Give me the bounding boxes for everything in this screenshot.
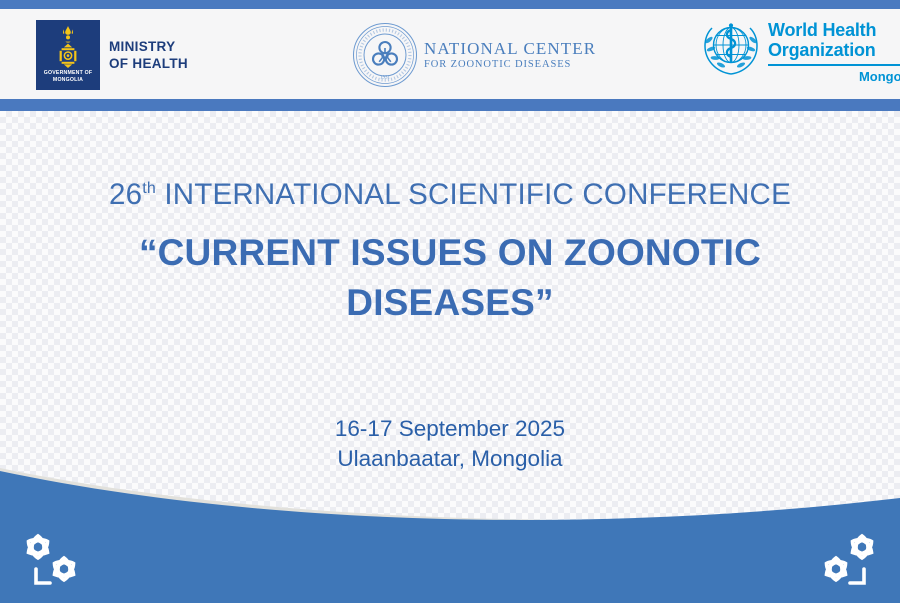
conference-edition-line: 26th INTERNATIONAL SCIENTIFIC CONFERENCE [0, 178, 900, 212]
soyombo-symbol-icon [51, 24, 85, 68]
ministry-name-line2: OF HEALTH [109, 55, 188, 72]
seal-year: 1931 [380, 76, 391, 81]
emblem-caption: GOVERNMENT OF MONGOLIA [36, 70, 100, 84]
top-accent-bar [0, 0, 900, 9]
conference-edition-text: INTERNATIONAL SCIENTIFIC CONFERENCE [156, 178, 791, 211]
national-center-name-line1: NATIONAL CENTER [424, 39, 596, 58]
conference-edition-ordinal: th [142, 180, 156, 197]
wave-fill [0, 471, 900, 603]
conference-edition-number: 26 [109, 178, 142, 211]
mongolia-government-emblem: GOVERNMENT OF MONGOLIA [36, 20, 100, 90]
who-wordmark: World Health Organization Mongolia [768, 20, 900, 84]
conference-title-slide: GOVERNMENT OF MONGOLIA MINISTRY OF HEALT… [0, 0, 900, 603]
who-name-line2: Organization [768, 40, 900, 60]
who-divider [768, 64, 900, 66]
header-accent-bar [0, 99, 900, 111]
ministry-name: MINISTRY OF HEALTH [109, 38, 188, 72]
national-center-zoonotic-diseases-logo: 1931 NATIONAL CENTER FOR ZOONOTIC DISEAS… [352, 22, 596, 88]
emblem-caption-line1: GOVERNMENT OF [44, 70, 92, 76]
ministry-name-line1: MINISTRY [109, 38, 188, 55]
event-details: 16-17 September 2025 Ulaanbaatar, Mongol… [0, 414, 900, 474]
ministry-of-health-logo: GOVERNMENT OF MONGOLIA MINISTRY OF HEALT… [36, 20, 188, 90]
who-name-line1: World Health [768, 20, 900, 40]
footer-wave-decoration [0, 468, 900, 603]
zoonotic-seal-icon: 1931 [352, 22, 418, 88]
page-title: “CURRENT ISSUES ON ZOONOTIC DISEASES” [60, 228, 840, 328]
event-date: 16-17 September 2025 [0, 414, 900, 444]
emblem-caption-line2: MONGOLIA [53, 77, 83, 83]
national-center-name-line2: FOR ZOONOTIC DISEASES [424, 58, 596, 72]
who-emblem-icon [700, 20, 762, 78]
mongolian-knot-ornament-right [808, 525, 886, 595]
who-country-label: Mongolia [768, 69, 900, 84]
mongolian-knot-ornament-left [14, 525, 92, 595]
who-mongolia-logo: World Health Organization Mongolia [700, 20, 900, 84]
national-center-name: NATIONAL CENTER FOR ZOONOTIC DISEASES [424, 39, 596, 72]
